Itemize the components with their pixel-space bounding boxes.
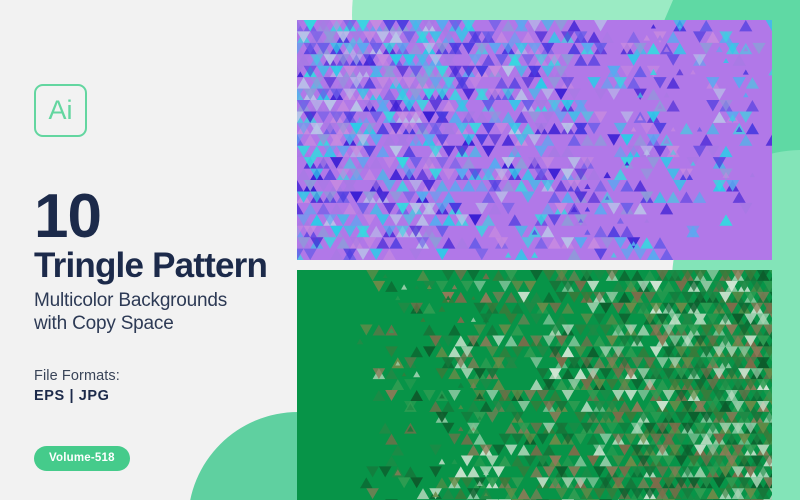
green-pattern-canvas bbox=[297, 270, 772, 500]
file-formats-block: File Formats: EPS | JPG bbox=[34, 368, 284, 404]
adobe-illustrator-badge-label: Ai bbox=[48, 97, 72, 124]
preview-canvas: Ai 10 Tringle Pattern Multicolor Backgro… bbox=[0, 0, 800, 500]
file-formats-value: EPS | JPG bbox=[34, 388, 284, 404]
info-column: Ai 10 Tringle Pattern Multicolor Backgro… bbox=[34, 84, 284, 471]
file-formats-label: File Formats: bbox=[34, 368, 284, 384]
item-count: 10 bbox=[34, 188, 284, 245]
purple-triangle-pattern-preview[interactable] bbox=[297, 20, 772, 260]
page-title: Tringle Pattern bbox=[34, 248, 284, 283]
purple-pattern-canvas bbox=[297, 20, 772, 260]
adobe-illustrator-badge-icon: Ai bbox=[34, 84, 87, 137]
volume-badge: Volume-518 bbox=[34, 446, 130, 471]
green-triangle-pattern-preview[interactable] bbox=[297, 270, 772, 500]
page-subtitle: Multicolor Backgroundswith Copy Space bbox=[34, 289, 284, 335]
